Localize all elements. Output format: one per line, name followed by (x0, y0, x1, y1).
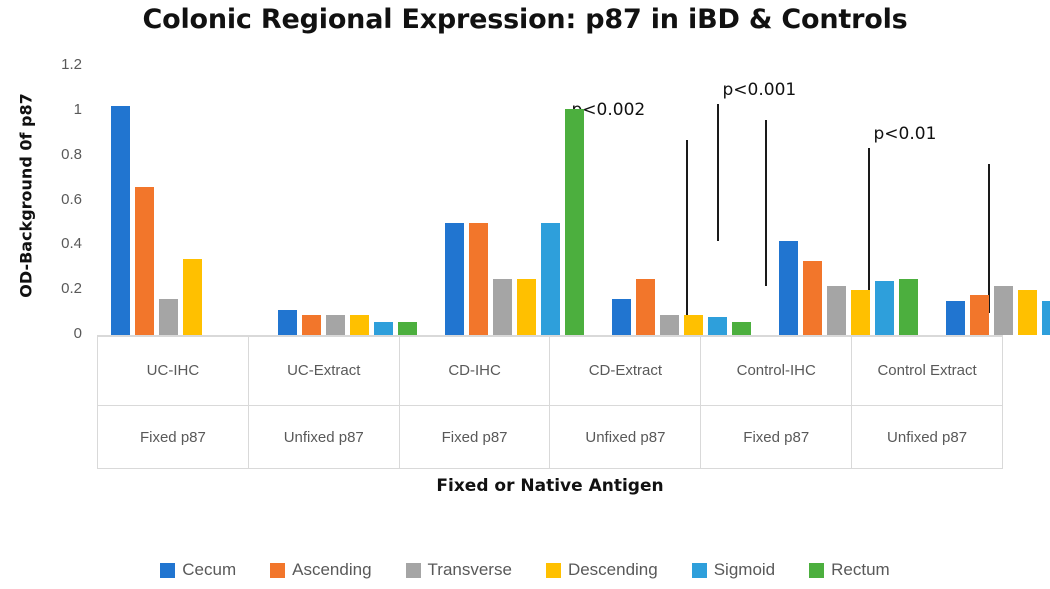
bar[interactable] (684, 315, 703, 335)
category-label-table: UC-IHCUC-ExtractCD-IHCCD-ExtractControl-… (97, 337, 1003, 469)
legend-label: Cecum (182, 560, 236, 580)
bar[interactable] (827, 286, 846, 335)
bar-set (765, 66, 932, 335)
bar-group (431, 66, 598, 335)
legend-swatch-icon (692, 563, 707, 578)
bar[interactable] (660, 315, 679, 335)
bar-group (932, 66, 1050, 335)
y-tick-label: 0.8 (40, 146, 82, 163)
bar[interactable] (1042, 301, 1050, 335)
bar[interactable] (803, 261, 822, 335)
chart-title: Colonic Regional Expression: p87 in iBD … (0, 4, 1050, 35)
legend-item[interactable]: Sigmoid (692, 560, 775, 580)
bar[interactable] (565, 109, 584, 335)
bar[interactable] (326, 315, 345, 335)
bar[interactable] (374, 322, 393, 335)
category-sublabel: Fixed p87 (98, 406, 249, 469)
legend-swatch-icon (809, 563, 824, 578)
legend-swatch-icon (160, 563, 175, 578)
category-label: Control-IHC (701, 337, 852, 406)
category-sublabel: Fixed p87 (701, 406, 852, 469)
bar-groups (97, 66, 1003, 335)
bar[interactable] (517, 279, 536, 335)
bar[interactable] (946, 301, 965, 335)
bar[interactable] (398, 322, 417, 335)
legend-item[interactable]: Descending (546, 560, 658, 580)
category-label: UC-IHC (98, 337, 249, 406)
legend-label: Descending (568, 560, 658, 580)
bar-group (765, 66, 932, 335)
y-tick-label: 0 (40, 325, 82, 342)
legend-label: Sigmoid (714, 560, 775, 580)
legend-item[interactable]: Rectum (809, 560, 890, 580)
bar[interactable] (899, 279, 918, 335)
y-tick-label: 1 (40, 101, 82, 118)
bar-set (264, 66, 431, 335)
bar[interactable] (851, 290, 870, 335)
bar[interactable] (469, 223, 488, 335)
category-sublabel: Unfixed p87 (550, 406, 701, 469)
bar[interactable] (708, 317, 727, 335)
bar-set (598, 66, 765, 335)
bar[interactable] (994, 286, 1013, 335)
x-axis-title: Fixed or Native Antigen (97, 476, 1003, 496)
bar[interactable] (159, 299, 178, 335)
bar[interactable] (445, 223, 464, 335)
y-tick-label: 0.6 (40, 191, 82, 208)
legend-item[interactable]: Cecum (160, 560, 236, 580)
bar[interactable] (135, 187, 154, 335)
bar-group (97, 66, 264, 335)
legend-label: Rectum (831, 560, 890, 580)
legend-label: Ascending (292, 560, 371, 580)
bar-set (97, 66, 264, 335)
bar[interactable] (612, 299, 631, 335)
bar[interactable] (111, 106, 130, 335)
chart-legend: CecumAscendingTransverseDescendingSigmoi… (0, 560, 1050, 580)
legend-swatch-icon (406, 563, 421, 578)
bar[interactable] (541, 223, 560, 335)
bar[interactable] (350, 315, 369, 335)
category-label: UC-Extract (248, 337, 399, 406)
bar[interactable] (278, 310, 297, 335)
bar[interactable] (1018, 290, 1037, 335)
y-tick-label: 0.4 (40, 235, 82, 252)
bar-set (431, 66, 598, 335)
category-row-secondary: Fixed p87Unfixed p87Fixed p87Unfixed p87… (98, 406, 1003, 469)
legend-item[interactable]: Transverse (406, 560, 512, 580)
bar[interactable] (302, 315, 321, 335)
category-sublabel: Unfixed p87 (852, 406, 1003, 469)
legend-swatch-icon (546, 563, 561, 578)
bar[interactable] (493, 279, 512, 335)
bar[interactable] (732, 322, 751, 335)
category-label: CD-Extract (550, 337, 701, 406)
category-sublabel: Unfixed p87 (248, 406, 399, 469)
bar[interactable] (636, 279, 655, 335)
bar-chart: Colonic Regional Expression: p87 in iBD … (0, 0, 1050, 589)
bar-group (598, 66, 765, 335)
bar-set (932, 66, 1050, 335)
bar[interactable] (970, 295, 989, 335)
y-tick-label: 0.2 (40, 280, 82, 297)
bar[interactable] (183, 259, 202, 335)
bar[interactable] (779, 241, 798, 335)
bar-group (264, 66, 431, 335)
y-axis-title: OD-Background 0f p87 (17, 66, 36, 326)
legend-label: Transverse (428, 560, 512, 580)
category-row-primary: UC-IHCUC-ExtractCD-IHCCD-ExtractControl-… (98, 337, 1003, 406)
category-label: Control Extract (852, 337, 1003, 406)
category-label: CD-IHC (399, 337, 550, 406)
y-tick-label: 1.2 (40, 56, 82, 73)
legend-item[interactable]: Ascending (270, 560, 371, 580)
legend-swatch-icon (270, 563, 285, 578)
bar[interactable] (875, 281, 894, 335)
category-sublabel: Fixed p87 (399, 406, 550, 469)
